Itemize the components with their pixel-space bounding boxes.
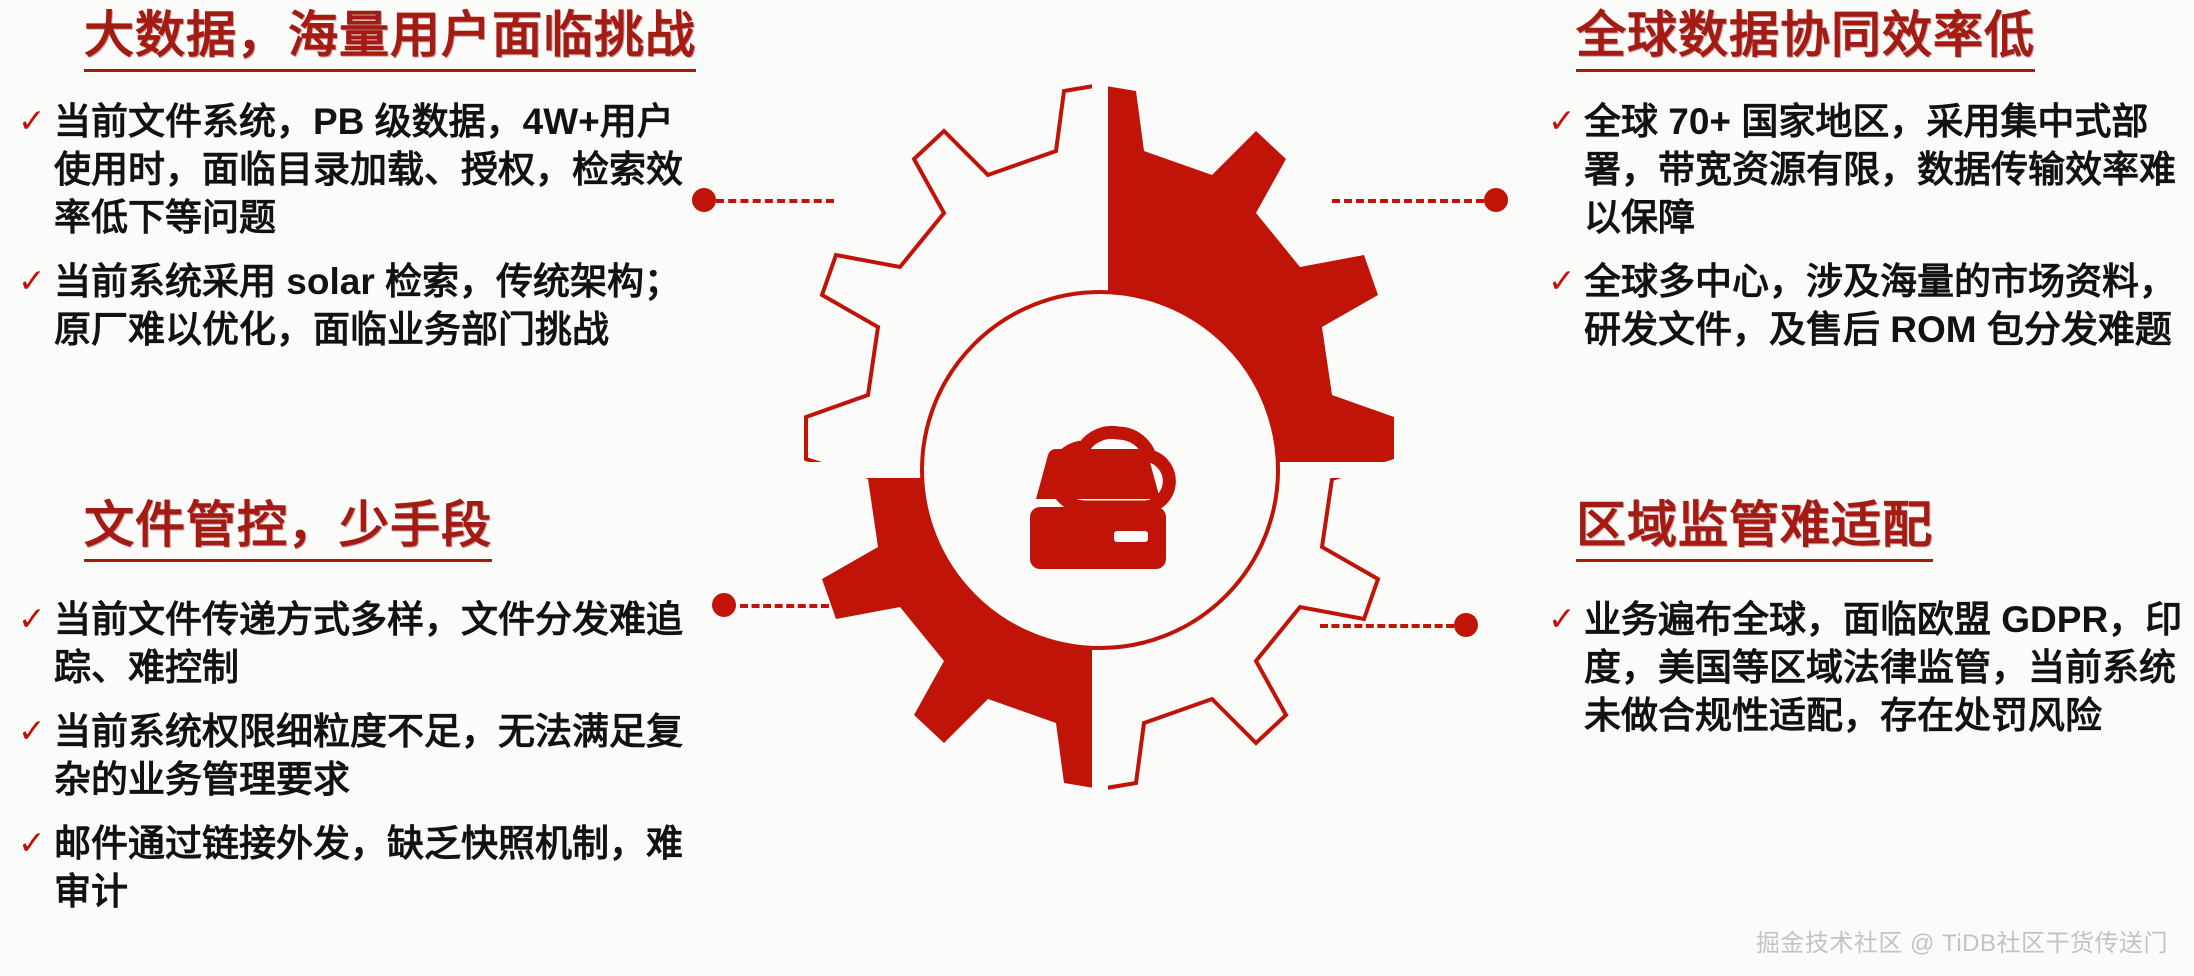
bullet-text: 当前文件传递方式多样，文件分发难追踪、难控制 — [54, 596, 708, 692]
bullet-text: 邮件通过链接外发，缺乏快照机制，难审计 — [54, 820, 708, 916]
check-icon: ✓ — [18, 98, 54, 144]
watermark-text: 掘金技术社区 @ TiDB社区干货传送门 — [1756, 923, 2168, 958]
list-item: ✓ 全球 70+ 国家地区，采用集中式部署，带宽资源有限，数据传输效率难以保障 — [1548, 98, 2188, 242]
section-heading-top-right: 全球数据协同效率低 — [1576, 8, 2035, 72]
bullet-list-bottom-left: ✓ 当前文件传递方式多样，文件分发难追踪、难控制 ✓ 当前系统权限细粒度不足，无… — [18, 596, 708, 917]
bullet-text: 业务遍布全球，面临欧盟 GDPR，印度，美国等区域法律监管，当前系统未做合规性适… — [1584, 596, 2188, 740]
list-item: ✓ 邮件通过链接外发，缺乏快照机制，难审计 — [18, 820, 708, 916]
check-icon: ✓ — [18, 258, 54, 304]
section-top-left: 大数据，海量用户面临挑战 ✓ 当前文件系统，PB 级数据，4W+用户使用时，面临… — [18, 8, 708, 370]
connector-line-top-left — [716, 199, 834, 203]
connector-line-top-right — [1332, 199, 1484, 203]
bullet-list-top-left: ✓ 当前文件系统，PB 级数据，4W+用户使用时，面临目录加载、授权，检索效率低… — [18, 98, 708, 354]
section-bottom-right: 区域监管难适配 ✓ 业务遍布全球，面临欧盟 GDPR，印度，美国等区域法律监管，… — [1548, 498, 2188, 756]
check-icon: ✓ — [18, 820, 54, 866]
check-icon: ✓ — [18, 708, 54, 754]
connector-dot-bottom-left — [712, 593, 736, 617]
bullet-text: 全球多中心，涉及海量的市场资料，研发文件，及售后 ROM 包分发难题 — [1584, 258, 2188, 354]
connector-line-bottom-left — [740, 604, 852, 608]
list-item: ✓ 业务遍布全球，面临欧盟 GDPR，印度，美国等区域法律监管，当前系统未做合规… — [1548, 596, 2188, 740]
list-item: ✓ 全球多中心，涉及海量的市场资料，研发文件，及售后 ROM 包分发难题 — [1548, 258, 2188, 354]
bullet-text: 当前系统权限细粒度不足，无法满足复杂的业务管理要求 — [54, 708, 708, 804]
section-heading-top-left: 大数据，海量用户面临挑战 — [84, 8, 696, 72]
list-item: ✓ 当前文件系统，PB 级数据，4W+用户使用时，面临目录加载、授权，检索效率低… — [18, 98, 708, 242]
heading-wrap-bottom-right: 区域监管难适配 — [1548, 498, 2188, 562]
list-item: ✓ 当前系统权限细粒度不足，无法满足复杂的业务管理要求 — [18, 708, 708, 804]
bullet-list-top-right: ✓ 全球 70+ 国家地区，采用集中式部署，带宽资源有限，数据传输效率难以保障 … — [1548, 98, 2188, 354]
heading-wrap-bottom-left: 文件管控，少手段 — [18, 498, 708, 562]
gear-cluster-graphic — [700, 55, 1500, 885]
heading-wrap-top-right: 全球数据协同效率低 — [1548, 8, 2188, 72]
section-top-right: 全球数据协同效率低 ✓ 全球 70+ 国家地区，采用集中式部署，带宽资源有限，数… — [1548, 8, 2188, 370]
bullet-text: 全球 70+ 国家地区，采用集中式部署，带宽资源有限，数据传输效率难以保障 — [1584, 98, 2188, 242]
gear-cluster-svg — [700, 55, 1500, 885]
bullet-text: 当前系统采用 solar 检索，传统架构；原厂难以优化，面临业务部门挑战 — [54, 258, 708, 354]
check-icon: ✓ — [1548, 98, 1584, 144]
check-icon: ✓ — [18, 596, 54, 642]
connector-dot-top-left — [692, 188, 716, 212]
slide-canvas: 大数据，海量用户面临挑战 ✓ 当前文件系统，PB 级数据，4W+用户使用时，面临… — [0, 0, 2194, 976]
list-item: ✓ 当前文件传递方式多样，文件分发难追踪、难控制 — [18, 596, 708, 692]
list-item: ✓ 当前系统采用 solar 检索，传统架构；原厂难以优化，面临业务部门挑战 — [18, 258, 708, 354]
section-heading-bottom-right: 区域监管难适配 — [1576, 498, 1933, 562]
section-heading-bottom-left: 文件管控，少手段 — [84, 498, 492, 562]
bullet-list-bottom-right: ✓ 业务遍布全球，面临欧盟 GDPR，印度，美国等区域法律监管，当前系统未做合规… — [1548, 596, 2188, 740]
check-icon: ✓ — [1548, 258, 1584, 304]
bullet-text: 当前文件系统，PB 级数据，4W+用户使用时，面临目录加载、授权，检索效率低下等… — [54, 98, 708, 242]
connector-line-bottom-right — [1320, 624, 1454, 628]
connector-dot-top-right — [1484, 188, 1508, 212]
check-icon: ✓ — [1548, 596, 1584, 642]
connector-dot-bottom-right — [1454, 613, 1478, 637]
heading-wrap-top-left: 大数据，海量用户面临挑战 — [18, 8, 708, 72]
section-bottom-left: 文件管控，少手段 ✓ 当前文件传递方式多样，文件分发难追踪、难控制 ✓ 当前系统… — [18, 498, 708, 933]
